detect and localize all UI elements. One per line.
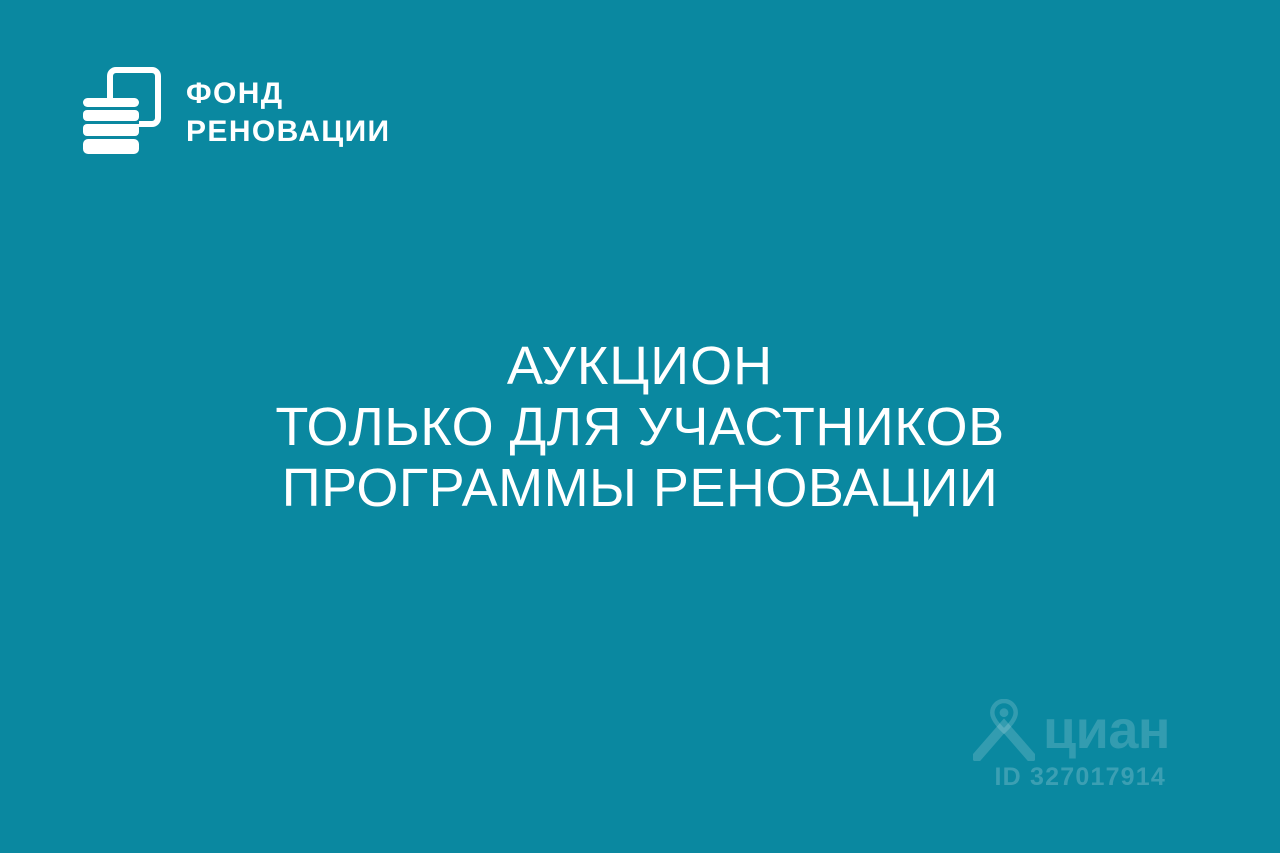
cian-watermark-word: циан [1043,703,1170,757]
cian-listing-id: ID 327017914 [995,763,1166,791]
headline-block: АУКЦИОН ТОЛЬКО ДЛЯ УЧАСТНИКОВ ПРОГРАММЫ … [0,336,1280,519]
stacked-documents-icon [80,66,162,158]
poster-canvas: ФОНД РЕНОВАЦИИ АУКЦИОН ТОЛЬКО ДЛЯ УЧАСТН… [0,0,1280,853]
cian-watermark: циан ID 327017914 [973,699,1170,791]
cian-watermark-logo: циан [973,699,1170,761]
headline-line-2: ТОЛЬКО ДЛЯ УЧАСТНИКОВ [40,397,1240,458]
brand-line-fond: ФОНД [186,76,391,112]
brand-wordmark: ФОНД РЕНОВАЦИИ [186,74,391,150]
headline-line-3: ПРОГРАММЫ РЕНОВАЦИИ [40,458,1240,519]
cian-pin-chevron-icon [973,699,1035,761]
headline-line-1: АУКЦИОН [40,336,1240,397]
brand-line-renovacii: РЕНОВАЦИИ [186,114,391,150]
brand-logo: ФОНД РЕНОВАЦИИ [80,66,391,158]
